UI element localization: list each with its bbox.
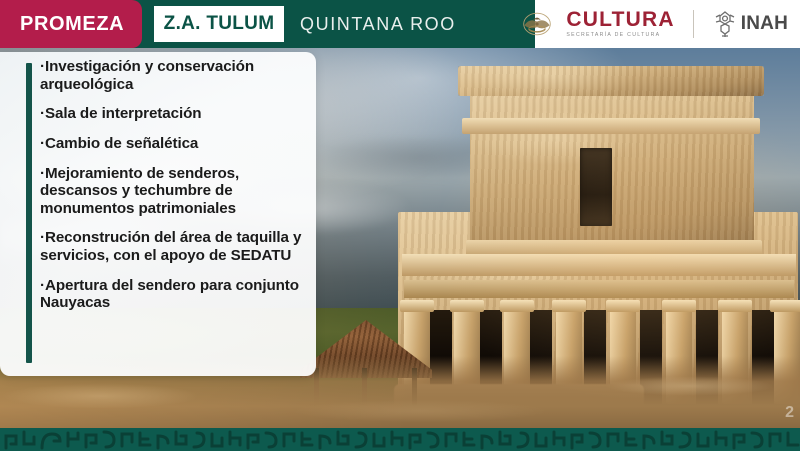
logo-divider	[693, 10, 694, 38]
list-item: ·Investigación y conservación arqueológi…	[40, 58, 308, 93]
list-item: ·Sala de interpretación	[40, 105, 308, 123]
inah-logo: INAH	[712, 10, 788, 38]
program-badge: PROMEZA	[0, 0, 142, 48]
bullets-list: ·Investigación y conservación arqueológi…	[40, 58, 308, 312]
state-label: QUINTANA ROO	[300, 0, 456, 48]
photo-watermark: 2	[785, 404, 794, 422]
mexican-coat-of-arms-icon	[518, 11, 556, 37]
cultura-logo: CULTURA SECRETARÍA DE CULTURA	[566, 9, 674, 38]
list-item: ·Reconstrución del área de taquilla y se…	[40, 229, 308, 264]
inah-glyph-icon	[712, 10, 738, 38]
list-item: ·Apertura del sendero para conjunto Nauy…	[40, 277, 308, 312]
bullets-panel: ·Investigación y conservación arqueológi…	[0, 52, 316, 376]
greca-footer-band	[0, 428, 800, 451]
header-bar: PROMEZA Z.A. TULUM QUINTANA ROO CULTURA …	[0, 0, 800, 48]
logo-group: CULTURA SECRETARÍA DE CULTURA INAH	[518, 0, 788, 48]
promeza-infographic: 2 PROMEZA Z.A. TULUM QUINTANA ROO CULTUR…	[0, 0, 800, 451]
list-item: ·Cambio de señalética	[40, 135, 308, 153]
cultura-subtitle: SECRETARÍA DE CULTURA	[566, 33, 674, 38]
site-label: Z.A. TULUM	[164, 13, 275, 35]
program-label: PROMEZA	[0, 13, 124, 36]
panel-accent-bar	[26, 63, 32, 363]
cultura-wordmark: CULTURA	[566, 9, 674, 30]
list-item: ·Mejoramiento de senderos, descansos y t…	[40, 165, 308, 218]
inah-wordmark: INAH	[741, 13, 788, 35]
maya-greca-pattern	[0, 428, 800, 451]
site-badge: Z.A. TULUM	[152, 4, 286, 44]
